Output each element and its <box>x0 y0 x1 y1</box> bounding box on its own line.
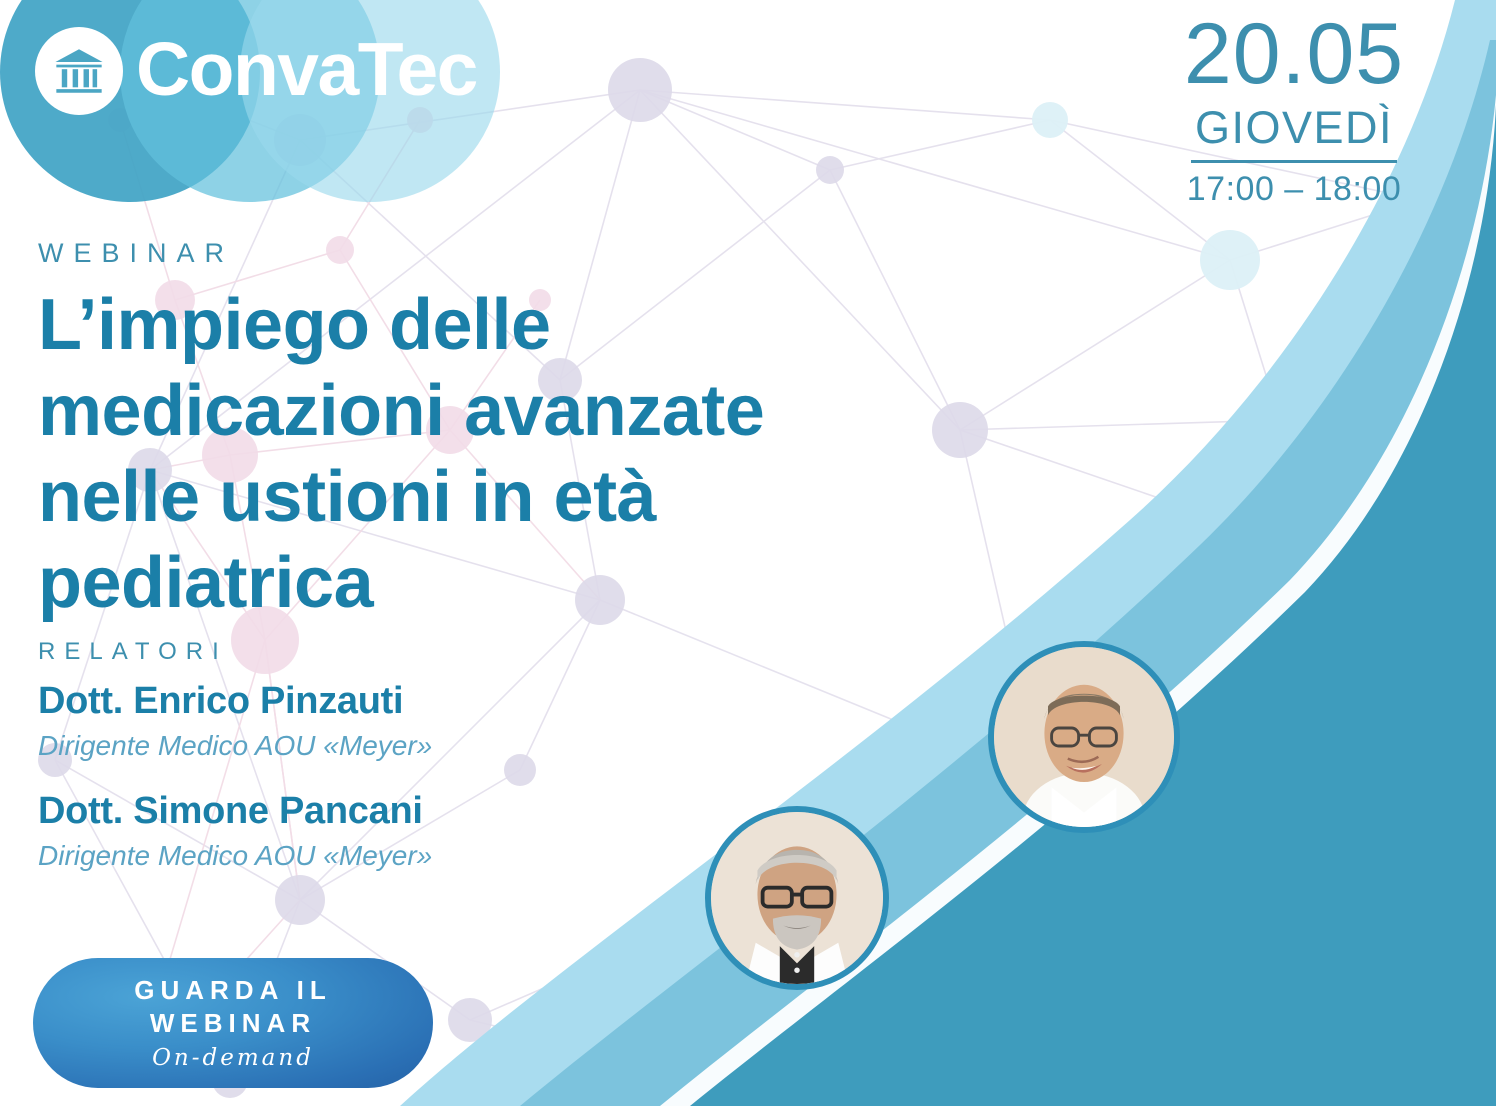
main-content: WEBINAR L’impiego delle medicazioni avan… <box>38 234 988 876</box>
title-line-1: L’impiego delle <box>38 282 988 368</box>
avatar-pancani <box>705 806 889 990</box>
webinar-poster: ConvaTec 20.05 GIOVEDÌ 17:00 – 18:00 WEB… <box>0 0 1496 1106</box>
speakers-section-label: RELATORI <box>38 634 988 670</box>
page-title: L’impiego delle medicazioni avanzate nel… <box>38 282 988 626</box>
event-time: 17:00 – 18:00 <box>1144 169 1444 209</box>
cta-label-line-1: GUARDA IL <box>134 974 331 1007</box>
brand-logo: ConvaTec <box>0 0 500 222</box>
event-weekday: GIOVEDÌ <box>1144 100 1444 156</box>
title-line-4: pediatrica <box>38 540 988 626</box>
speaker-entry: Dott. Enrico Pinzauti Dirigente Medico A… <box>38 676 988 766</box>
date-divider <box>1191 160 1397 163</box>
brand-wordmark: ConvaTec <box>136 24 477 114</box>
cta-label-line-2: WEBINAR <box>150 1007 316 1040</box>
title-line-2: medicazioni avanzate <box>38 368 988 454</box>
webinar-kicker-label: WEBINAR <box>38 234 988 272</box>
cta-sublabel: On-demand <box>152 1043 314 1073</box>
watch-webinar-button[interactable]: GUARDA IL WEBINAR On-demand <box>33 958 433 1088</box>
speaker-role: Dirigente Medico AOU «Meyer» <box>38 726 988 766</box>
event-date-block: 20.05 GIOVEDÌ 17:00 – 18:00 <box>1144 8 1444 209</box>
event-date: 20.05 <box>1144 8 1444 100</box>
avatar-pinzauti <box>988 641 1180 833</box>
speaker-name: Dott. Enrico Pinzauti <box>38 676 988 726</box>
title-line-3: nelle ustioni in età <box>38 454 988 540</box>
temple-building-icon <box>35 27 123 115</box>
